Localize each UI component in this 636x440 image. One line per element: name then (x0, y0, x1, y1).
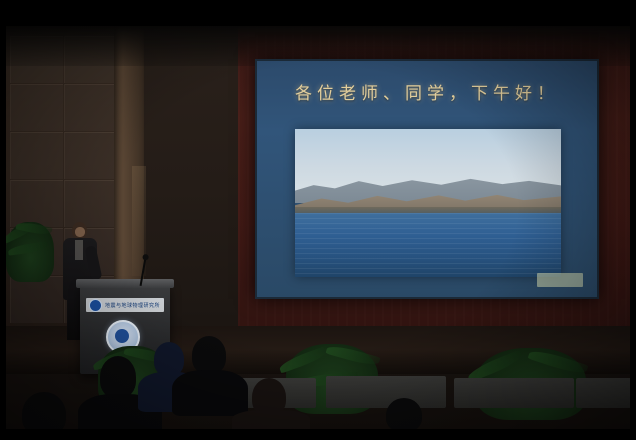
seat-back (454, 378, 574, 408)
audience-head (22, 392, 66, 429)
stone-block (10, 84, 63, 131)
photo-water-reflection (295, 213, 561, 277)
stone-block (64, 84, 115, 131)
stone-block (10, 276, 63, 323)
slide-footnote-badge (537, 273, 583, 287)
presenter-face (75, 227, 85, 237)
audience-shoulders (232, 410, 310, 429)
podium-name-plate-text: 地震与地球物理研究所 (105, 302, 160, 309)
stone-block (64, 180, 115, 227)
audience-shoulders (172, 370, 248, 416)
stone-block (64, 132, 115, 179)
slide-photo-lake (295, 129, 561, 277)
audience-head (386, 398, 422, 429)
podium-name-plate: 地震与地球物理研究所 (86, 298, 164, 312)
plant-frond (8, 241, 49, 255)
slide-title-text: 各位老师、同学，下午好！ (255, 79, 599, 104)
seat-back (576, 378, 630, 408)
audience-head (154, 342, 184, 376)
audience-head (192, 336, 226, 374)
presenter-shirt (75, 240, 83, 260)
institute-emblem-small-icon (89, 299, 102, 312)
seat-back (326, 376, 446, 408)
potted-plant-left (6, 222, 54, 282)
auditorium-scene: 各位老师、同学，下午好！ (6, 26, 630, 429)
stone-block (10, 180, 63, 227)
audience-head (100, 356, 136, 398)
podium-top-surface (76, 279, 174, 288)
photo-frame: 各位老师、同学，下午好！ (0, 0, 636, 440)
stone-block (10, 132, 63, 179)
projection-screen[interactable]: 各位老师、同学，下午好！ (255, 59, 599, 299)
